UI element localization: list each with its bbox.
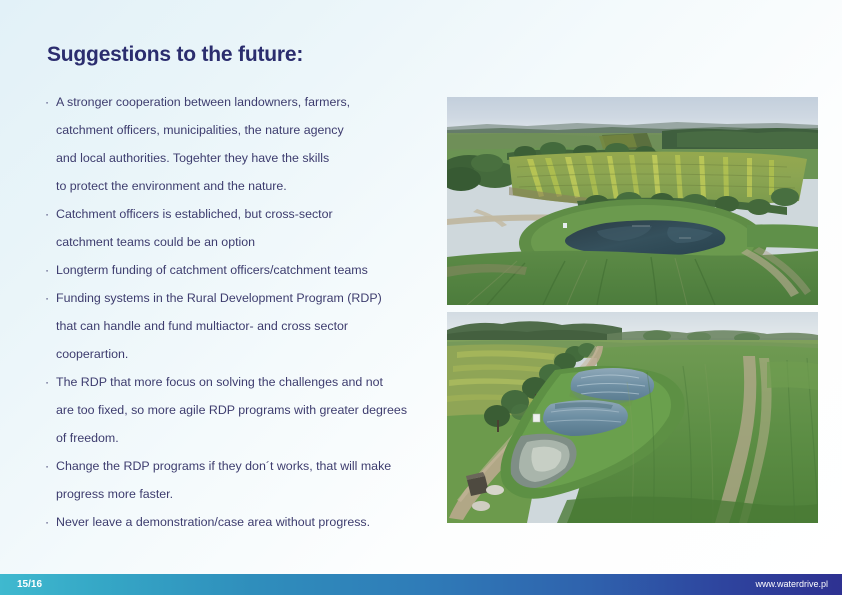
list-item: · Longterm funding of catchment officers… (45, 256, 445, 284)
bullet-text: catchment officers, municipalities, the … (56, 123, 344, 137)
bullet-text: of freedom. (56, 431, 119, 445)
bullet-text: progress more faster. (56, 487, 173, 501)
bullet-line: and local authorities. Togehter they hav… (45, 144, 445, 172)
bullet-text: Longterm funding of catchment officers/c… (56, 263, 368, 277)
bullet-text: Never leave a demonstration/case area wi… (56, 515, 370, 529)
slide: Suggestions to the future: · A stronger … (0, 0, 842, 595)
bullet-line: of freedom. (45, 424, 445, 452)
bullet-dot-icon: · (45, 200, 49, 228)
bullet-text: Change the RDP programs if they don´t wo… (56, 459, 391, 473)
bullet-dot-icon: · (45, 508, 49, 536)
bullet-line: · Funding systems in the Rural Developme… (45, 284, 445, 312)
bullet-text: are too fixed, so more agile RDP program… (56, 403, 407, 417)
list-item: · Catchment officers is establiched, but… (45, 200, 445, 256)
bullet-text: cooperartion. (56, 347, 128, 361)
bullet-line: catchment teams could be an option (45, 228, 445, 256)
bullet-dot-icon: · (45, 368, 49, 396)
bullet-line: · The RDP that more focus on solving the… (45, 368, 445, 396)
aerial-farmland-pond-top-photo (447, 97, 818, 305)
bullet-line: · Longterm funding of catchment officers… (45, 256, 445, 284)
page-title: Suggestions to the future: (47, 43, 303, 67)
bullet-line: catchment officers, municipalities, the … (45, 116, 445, 144)
suggestions-list: · A stronger cooperation between landown… (45, 88, 445, 536)
aerial-photo-bottom-graphic (447, 312, 818, 523)
aerial-photo-top-graphic (447, 97, 818, 305)
footer-bar: 15/16 www.waterdrive.pl (0, 574, 842, 595)
bullet-text: Catchment officers is establiched, but c… (56, 207, 333, 221)
bullet-line: cooperartion. (45, 340, 445, 368)
list-item: · Never leave a demonstration/case area … (45, 508, 445, 536)
list-item: · Funding systems in the Rural Developme… (45, 284, 445, 368)
bullet-text: catchment teams could be an option (56, 235, 255, 249)
bullet-dot-icon: · (45, 284, 49, 312)
bullet-dot-icon: · (45, 256, 49, 284)
bullet-text: to protect the environment and the natur… (56, 179, 287, 193)
bullet-text: A stronger cooperation between landowner… (56, 95, 350, 109)
bullet-line: · Catchment officers is establiched, but… (45, 200, 445, 228)
bullet-text: and local authorities. Togehter they hav… (56, 151, 329, 165)
bullet-line: progress more faster. (45, 480, 445, 508)
bullet-line: that can handle and fund multiactor- and… (45, 312, 445, 340)
bullet-dot-icon: · (45, 452, 49, 480)
list-item: · Change the RDP programs if they don´t … (45, 452, 445, 508)
bullet-line: · Never leave a demonstration/case area … (45, 508, 445, 536)
bullet-line: are too fixed, so more agile RDP program… (45, 396, 445, 424)
bullet-text: Funding systems in the Rural Development… (56, 291, 382, 305)
bullet-line: · Change the RDP programs if they don´t … (45, 452, 445, 480)
list-item: · The RDP that more focus on solving the… (45, 368, 445, 452)
bullet-line: to protect the environment and the natur… (45, 172, 445, 200)
aerial-farmland-ponds-bottom-photo (447, 312, 818, 523)
list-item: · A stronger cooperation between landown… (45, 88, 445, 200)
bullet-text: that can handle and fund multiactor- and… (56, 319, 348, 333)
bullet-dot-icon: · (45, 88, 49, 116)
page-number: 15/16 (17, 574, 42, 595)
footer-website-url: www.waterdrive.pl (755, 574, 828, 595)
bullet-line: · A stronger cooperation between landown… (45, 88, 445, 116)
bullet-text: The RDP that more focus on solving the c… (56, 375, 383, 389)
